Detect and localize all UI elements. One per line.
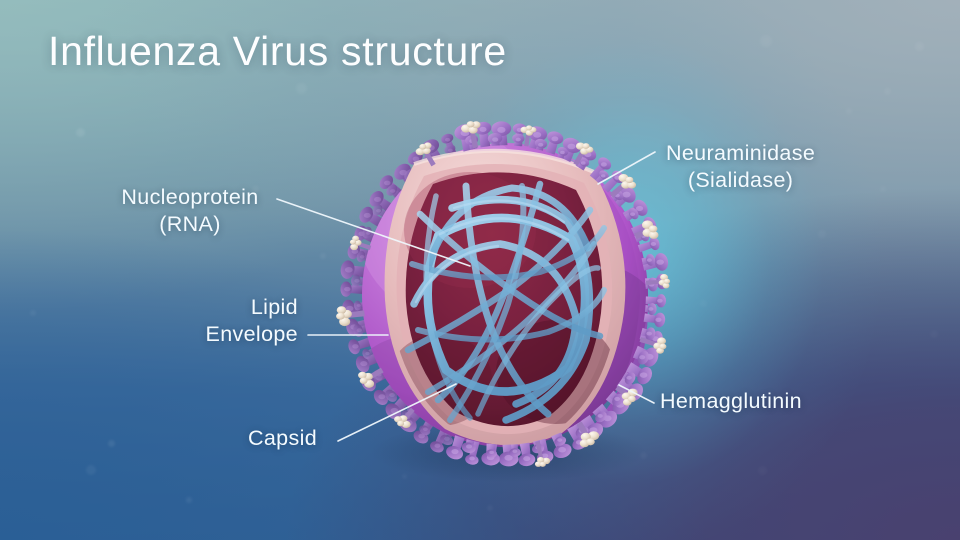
- label-nucleoprotein: Nucleoprotein (RNA): [106, 184, 274, 238]
- label-lipid-envelope-line2: Envelope: [176, 321, 298, 348]
- label-hemagglutinin-line1: Hemagglutinin: [660, 388, 802, 415]
- influenza-virion-illustration: [0, 0, 960, 540]
- page-title: Influenza Virus structure: [48, 28, 507, 75]
- cutaway-interior: [385, 151, 626, 445]
- label-nucleoprotein-line1: Nucleoprotein: [106, 184, 274, 211]
- label-nucleoprotein-line2: (RNA): [106, 211, 274, 238]
- label-neuraminidase: Neuraminidase (Sialidase): [666, 140, 815, 194]
- label-neuraminidase-line2: (Sialidase): [666, 167, 815, 194]
- label-lipid-envelope-line1: Lipid: [176, 294, 298, 321]
- label-capsid: Capsid: [248, 425, 317, 452]
- label-capsid-line1: Capsid: [248, 425, 317, 452]
- label-lipid-envelope: Lipid Envelope: [176, 294, 298, 348]
- slide-canvas: Influenza Virus structure Neuraminidase …: [0, 0, 960, 540]
- label-hemagglutinin: Hemagglutinin: [660, 388, 802, 415]
- label-neuraminidase-line1: Neuraminidase: [666, 140, 815, 167]
